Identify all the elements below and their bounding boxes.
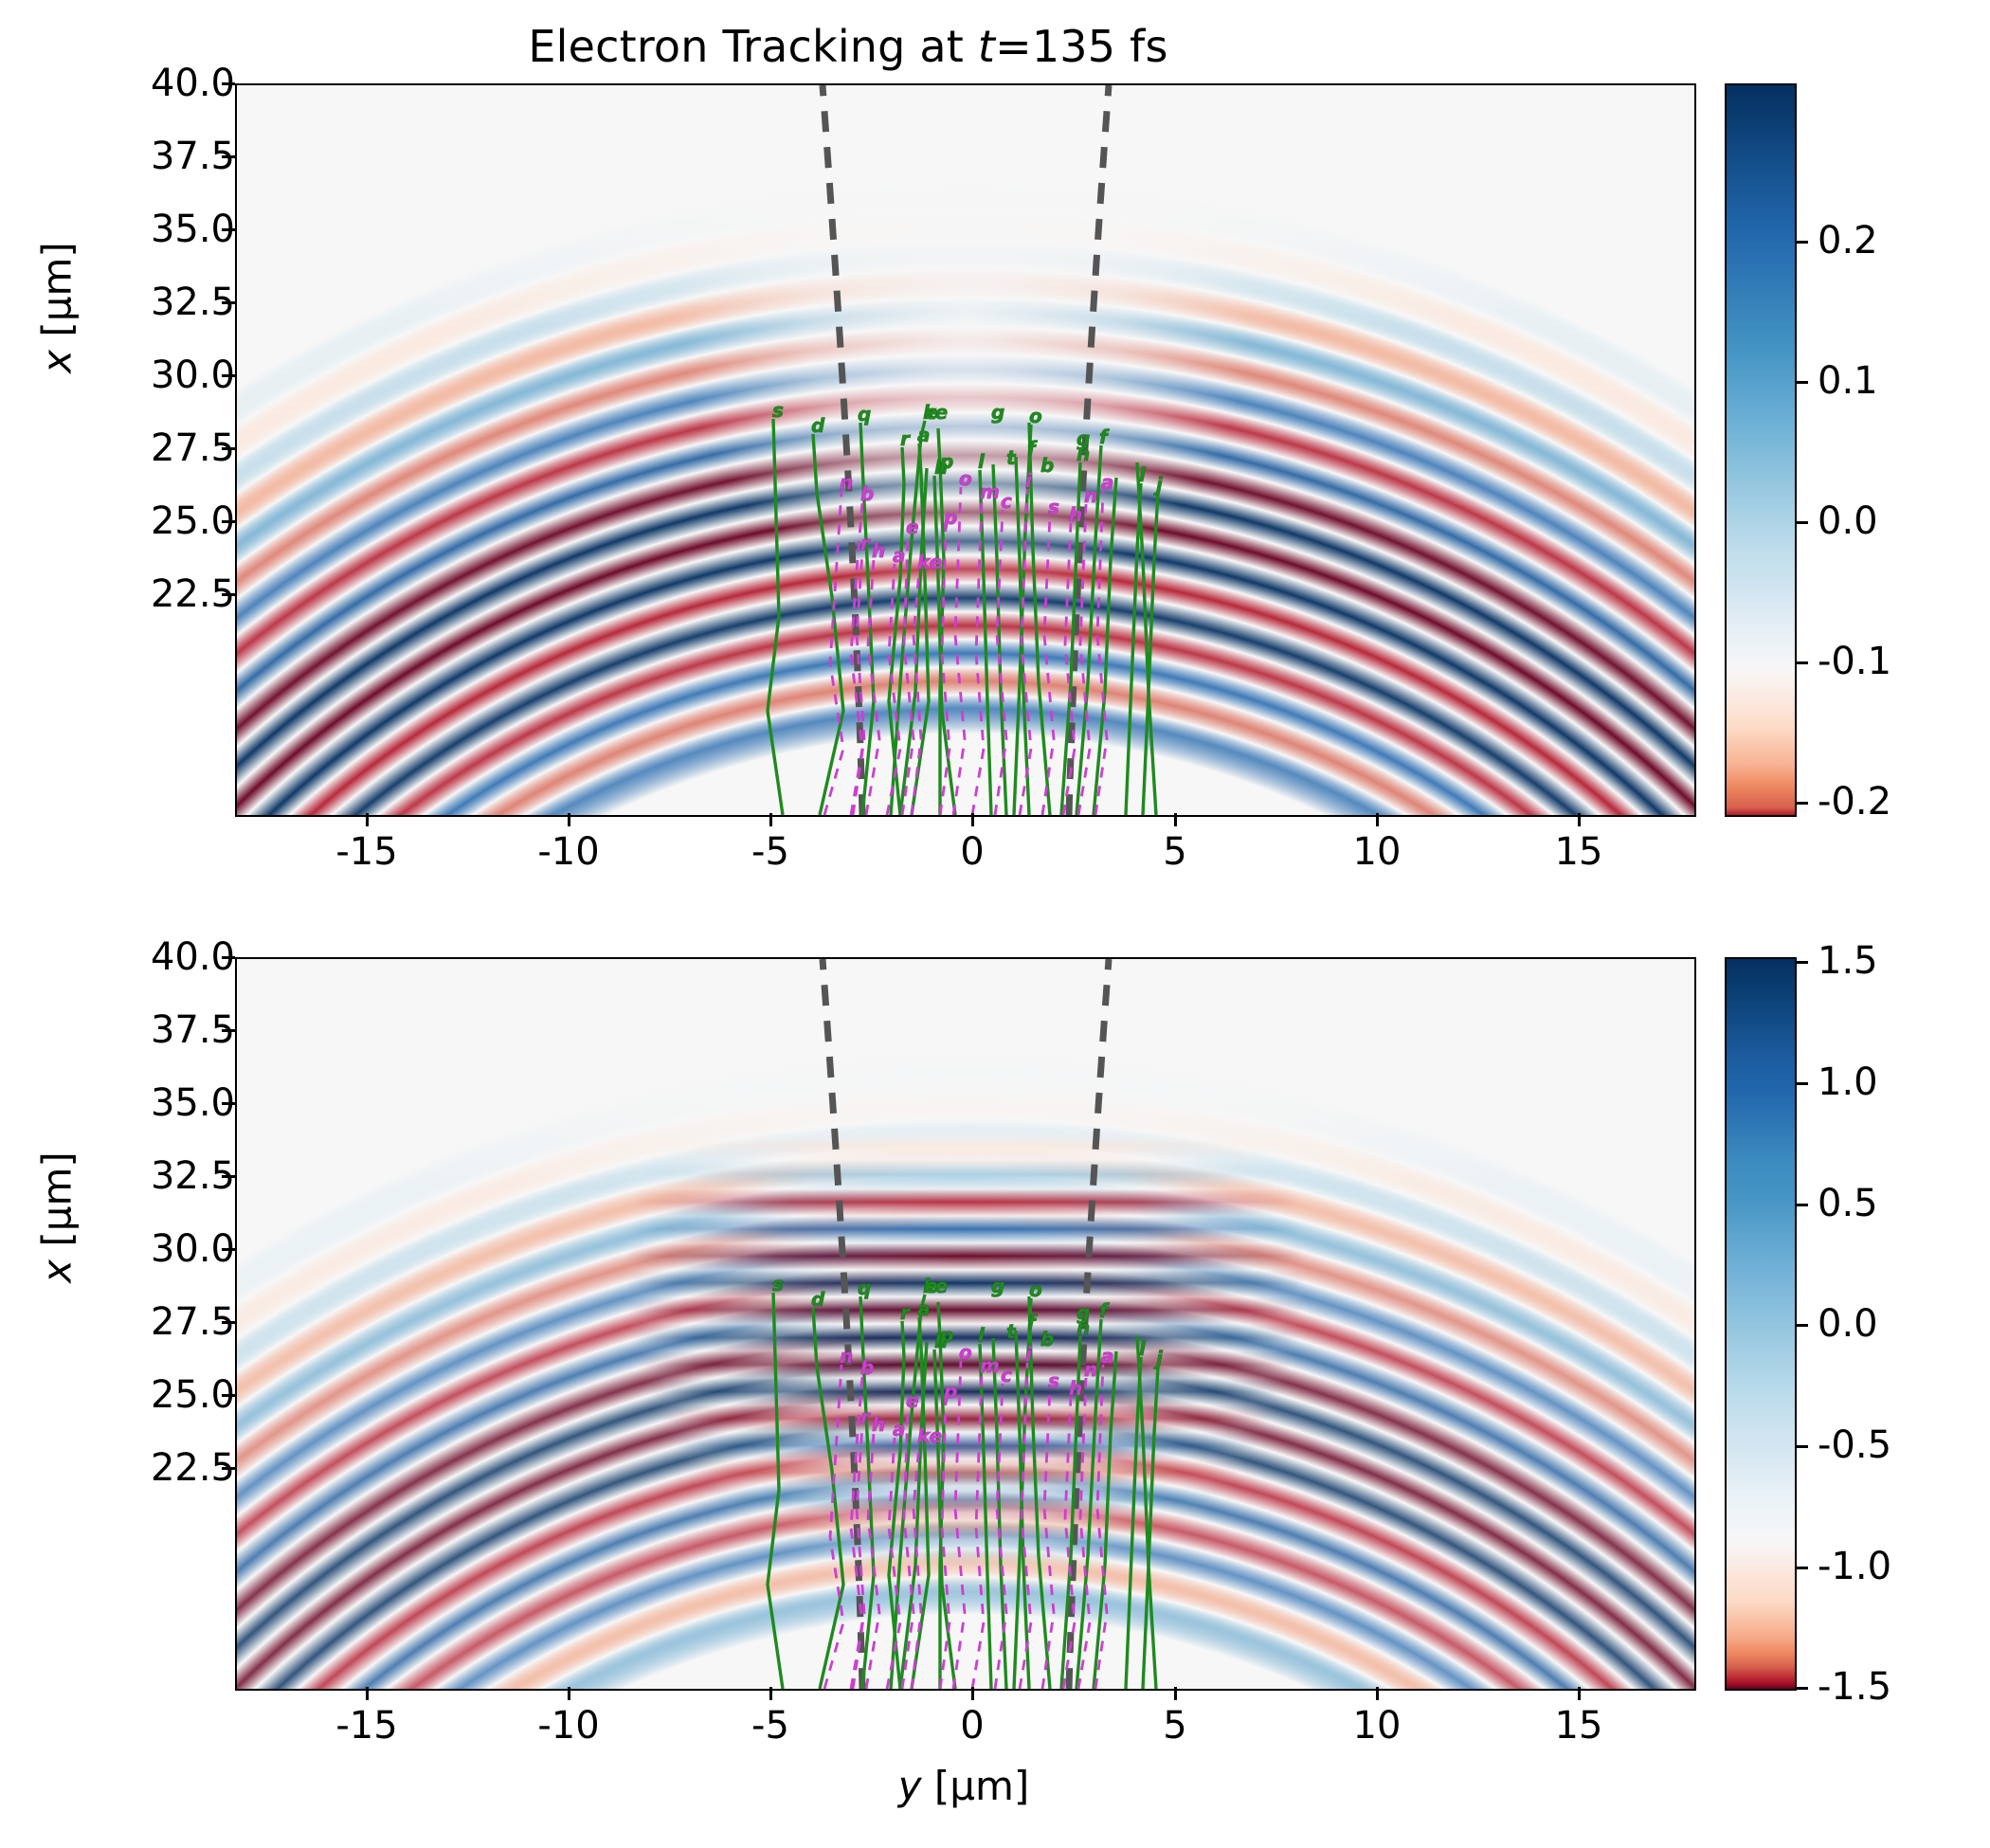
- figure-root: Electron Tracking at t=135 fs x [μm] 40.…: [0, 0, 1990, 1848]
- svg-text:a: a: [1101, 471, 1114, 494]
- svg-text:l: l: [978, 450, 986, 473]
- svg-text:p: p: [939, 450, 953, 473]
- colorbar-tick-label: -1.0: [1818, 1545, 1891, 1588]
- svg-text:p: p: [939, 1324, 953, 1347]
- colorbar-tick-label: 0.0: [1818, 1302, 1878, 1346]
- svg-text:g: g: [991, 401, 1004, 424]
- svg-text:e: e: [925, 1275, 938, 1297]
- svg-text:a: a: [893, 1418, 906, 1440]
- y-tick-label: 32.5: [27, 1154, 235, 1198]
- svg-text:p: p: [943, 506, 957, 529]
- colorbar-ey[interactable]: 1.5 1.0 0.5 0.0 -0.5 -1.0 -1.5: [1725, 957, 1797, 1691]
- y-tick-label: 25.0: [27, 1373, 235, 1417]
- colorbar-ex[interactable]: 0.2 0.1 0.0 -0.1 -0.2: [1725, 83, 1797, 817]
- svg-text:e: e: [906, 1389, 919, 1412]
- colorbar-tick-label: 0.1: [1818, 359, 1878, 403]
- colorbar-tick-label: -0.5: [1818, 1423, 1891, 1467]
- y-tick-label: 30.0: [27, 1227, 235, 1271]
- svg-text:n: n: [840, 471, 853, 494]
- svg-text:h: h: [872, 539, 885, 562]
- svg-text:q: q: [858, 403, 871, 426]
- colorbar-tick-label: 1.0: [1818, 1060, 1878, 1104]
- plot-area-ex[interactable]: s d q r a h ke p g l t f b n g: [235, 83, 1696, 817]
- y-tick-label: 32.5: [27, 281, 235, 324]
- svg-text:b: b: [860, 482, 874, 505]
- x-tick-label: -15: [335, 1704, 397, 1748]
- svg-text:n: n: [1084, 484, 1097, 507]
- colorbar-tick-label: -0.2: [1818, 780, 1891, 824]
- svg-text:p: p: [943, 1380, 957, 1403]
- svg-text:e: e: [906, 516, 919, 538]
- svg-text:g: g: [991, 1275, 1004, 1297]
- svg-text:o: o: [959, 467, 972, 490]
- svg-text:ke: ke: [917, 1424, 942, 1447]
- y-ticks-top: 40.0 37.5 35.0 32.5 30.0 27.5 25.0 22.5: [0, 0, 235, 834]
- x-tick-label: 15: [1555, 1704, 1603, 1748]
- x-tick-label: 10: [1353, 830, 1402, 874]
- y-tick-label: 37.5: [27, 1008, 235, 1052]
- svg-text:b: b: [860, 1356, 874, 1379]
- x-tick-label: 10: [1353, 1704, 1402, 1748]
- svg-text:t: t: [1006, 446, 1017, 469]
- x-tick-label: -5: [751, 830, 789, 874]
- x-axis-label: y [μm]: [235, 1763, 1692, 1809]
- x-tick-label: -15: [335, 830, 397, 874]
- x-tick-label: -5: [751, 1704, 789, 1748]
- panel-ex: x [μm] 40.0 37.5 35.0 32.5 30.0 27.5 25.…: [0, 0, 1990, 834]
- field-map-ex: s d q r a h ke p g l t f b n g: [237, 85, 1694, 815]
- svg-text:h: h: [1069, 503, 1082, 526]
- svg-text:s: s: [1048, 1369, 1059, 1392]
- colorbar-tick-label: -1.5: [1818, 1665, 1891, 1709]
- svg-text:b: b: [1040, 1328, 1054, 1350]
- svg-text:n: n: [840, 1345, 853, 1368]
- svg-text:r: r: [900, 427, 911, 450]
- svg-text:s: s: [772, 399, 784, 422]
- y-tick-label: 40.0: [27, 62, 235, 105]
- svg-text:o: o: [1029, 1278, 1042, 1301]
- svg-text:d: d: [811, 414, 825, 437]
- y-tick-label: 40.0: [27, 935, 235, 979]
- svg-text:h: h: [872, 1413, 885, 1436]
- x-tick-label: -10: [537, 830, 599, 874]
- svg-text:b: b: [1040, 454, 1054, 477]
- x-tick-label: 0: [960, 1704, 984, 1748]
- svg-text:r: r: [860, 532, 871, 554]
- colorbar-tick-label: 0.5: [1818, 1182, 1878, 1225]
- svg-text:q: q: [858, 1277, 871, 1299]
- svg-text:l: l: [1139, 463, 1147, 486]
- svg-text:e: e: [925, 401, 938, 424]
- svg-text:s: s: [1048, 496, 1059, 518]
- y-tick-label: 25.0: [27, 499, 235, 543]
- colorbar-tick-label: 1.5: [1818, 939, 1878, 983]
- y-tick-label: 27.5: [27, 426, 235, 470]
- y-tick-label: 30.0: [27, 353, 235, 397]
- svg-text:i: i: [1025, 1343, 1033, 1366]
- x-tick-label: -10: [537, 1704, 599, 1748]
- svg-text:s: s: [772, 1273, 784, 1295]
- x-tick-label: 5: [1163, 830, 1186, 874]
- svg-text:a: a: [893, 544, 906, 567]
- x-axis-var: y: [898, 1763, 922, 1809]
- y-tick-label: 22.5: [27, 1446, 235, 1490]
- colorbar-tick-label: 0.2: [1818, 219, 1878, 263]
- panel-ey: x [μm] 40.0 37.5 35.0 32.5 30.0 27.5 25.…: [0, 910, 1990, 1848]
- svg-text:h: h: [1069, 1377, 1082, 1400]
- svg-text:c: c: [1001, 490, 1012, 513]
- svg-text:ke: ke: [917, 551, 942, 573]
- svg-text:g: g: [1076, 1301, 1090, 1324]
- colorbar-tick-label: 0.0: [1818, 499, 1878, 543]
- y-tick-label: 27.5: [27, 1300, 235, 1344]
- colorbar-tick-label: -0.1: [1818, 640, 1891, 683]
- svg-text:a: a: [917, 424, 931, 446]
- y-tick-label: 35.0: [27, 208, 235, 251]
- x-tick-label: 5: [1163, 1704, 1186, 1748]
- svg-text:g: g: [1076, 427, 1090, 450]
- svg-text:l: l: [1139, 1337, 1147, 1360]
- y-tick-label: 37.5: [27, 135, 235, 178]
- x-axis-unit: [μm]: [922, 1763, 1030, 1809]
- svg-text:t: t: [1006, 1320, 1017, 1343]
- x-tick-label: 15: [1555, 830, 1603, 874]
- svg-text:a: a: [917, 1297, 931, 1320]
- svg-text:n: n: [1084, 1358, 1097, 1381]
- svg-text:o: o: [1029, 405, 1042, 427]
- svg-text:i: i: [1025, 469, 1033, 492]
- svg-text:m: m: [980, 1354, 1000, 1377]
- x-tick-label: 0: [960, 830, 984, 874]
- svg-text:r: r: [900, 1301, 911, 1324]
- svg-text:a: a: [1101, 1345, 1114, 1368]
- svg-text:r: r: [860, 1405, 871, 1428]
- svg-text:m: m: [980, 480, 1000, 503]
- svg-text:l: l: [978, 1324, 986, 1347]
- y-tick-label: 35.0: [27, 1081, 235, 1125]
- svg-text:d: d: [811, 1288, 825, 1311]
- field-map-ey: s d q r a h ke p g l t f b n g: [237, 959, 1694, 1689]
- plot-area-ey[interactable]: s d q r a h ke p g l t f b n g: [235, 957, 1696, 1691]
- svg-text:c: c: [1001, 1364, 1012, 1386]
- svg-text:o: o: [959, 1341, 972, 1364]
- y-tick-label: 22.5: [27, 572, 235, 616]
- y-ticks-bottom: 40.0 37.5 35.0 32.5 30.0 27.5 25.0 22.5: [0, 910, 235, 1744]
